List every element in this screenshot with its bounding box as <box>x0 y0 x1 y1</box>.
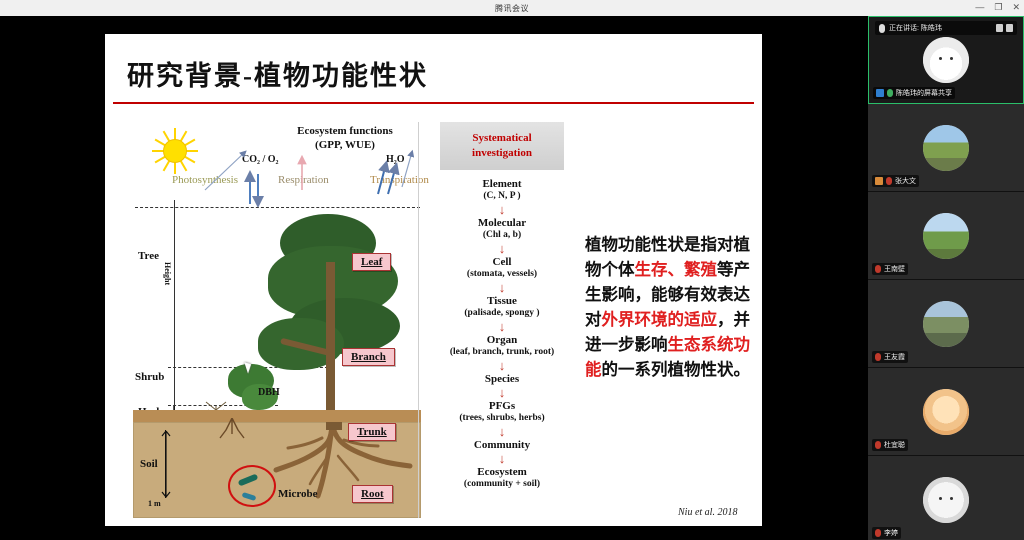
chain-arrow-icon: ↓ <box>430 424 574 439</box>
participant-name: 杜宜聪 <box>884 440 905 450</box>
chain-node-main: Element <box>430 178 574 190</box>
tag-trunk: Trunk <box>348 423 396 441</box>
window-title: 腾讯会议 <box>495 3 529 14</box>
flux-arrows <box>130 132 430 212</box>
chain-node-main: Organ <box>430 334 574 346</box>
participant-name: 王友霞 <box>884 352 905 362</box>
chain-node-main: Species <box>430 373 574 385</box>
avatar <box>923 125 969 171</box>
participant-name-bar: 张大文 <box>872 175 919 187</box>
chain-arrow-icon: ↓ <box>430 280 574 295</box>
pin-icon[interactable] <box>1006 24 1013 32</box>
definition-highlight: 生存、繁殖 <box>635 260 718 279</box>
chain-node-sub: (community + soil) <box>430 478 574 490</box>
avatar <box>923 37 969 83</box>
soil-layer-label: Soil <box>140 458 158 470</box>
participant-name: 李婷 <box>884 528 898 538</box>
window-title-bar: 腾讯会议 — ❐ ✕ <box>0 0 1024 16</box>
sys-line1: Systematical <box>472 132 531 144</box>
participant-name-bar: 李婷 <box>872 527 901 539</box>
participant-tile[interactable]: 王南壁 <box>868 192 1024 280</box>
mic-icon <box>887 89 893 97</box>
participant-tile[interactable]: 正在讲话: 陈皓玮陈皓玮的屏幕共享 <box>868 16 1024 104</box>
figure-divider <box>418 122 419 518</box>
chain-node: Cell(stomata, vessels) <box>430 256 574 280</box>
systematical-investigation-header: Systematical investigation <box>440 122 564 170</box>
microbe-label: Microbe <box>278 488 318 500</box>
microbe-highlight-circle <box>228 465 276 507</box>
presentation-slide: 研究背景-植物功能性状 Ecosystem functions (GPP, WU… <box>105 34 762 526</box>
avatar <box>923 301 969 347</box>
chain-node-sub: (trees, shrubs, herbs) <box>430 412 574 424</box>
participant-name-bar: 陈皓玮的屏幕共享 <box>873 87 955 99</box>
mic-off-icon <box>875 353 881 361</box>
chain-node-sub: (palisade, spongy ) <box>430 307 574 319</box>
chain-node-main: Molecular <box>430 217 574 229</box>
meeting-window: 腾讯会议 — ❐ ✕ 研究背景-植物功能性状 <box>0 0 1024 540</box>
close-icon[interactable]: ✕ <box>1012 1 1020 13</box>
chain-node: Organ(leaf, branch, trunk, root) <box>430 334 574 358</box>
volume-icon[interactable] <box>996 24 1003 32</box>
chain-node-sub: (leaf, branch, trunk, root) <box>430 346 574 358</box>
tag-leaf: Leaf <box>352 253 391 271</box>
share-icon <box>876 89 884 97</box>
mic-off-icon <box>875 265 881 273</box>
shrub-layer-label: Shrub <box>135 371 164 383</box>
hierarchy-chain: Element(C, N, P )↓Molecular(Chl a, b)↓Ce… <box>430 178 574 490</box>
chain-arrow-icon: ↓ <box>430 202 574 217</box>
chain-arrow-icon: ↓ <box>430 241 574 256</box>
participant-name: 张大文 <box>895 176 916 186</box>
definition-plain: 的一系列植物性状。 <box>602 360 751 379</box>
chain-node-main: Ecosystem <box>430 466 574 478</box>
dbh-label: DBH <box>258 387 280 398</box>
shared-screen-stage: 研究背景-植物功能性状 Ecosystem functions (GPP, WU… <box>0 16 868 540</box>
participant-tile[interactable]: 杜宜聪 <box>868 368 1024 456</box>
chain-node-sub: (Chl a, b) <box>430 229 574 241</box>
chain-node: Species <box>430 373 574 385</box>
mic-off-icon <box>875 529 881 537</box>
herb-root <box>208 418 258 446</box>
figure-container: Ecosystem functions (GPP, WUE) CO₂ / O₂ … <box>130 122 760 518</box>
chain-arrow-icon: ↓ <box>430 451 574 466</box>
chain-node-sub: (stomata, vessels) <box>430 268 574 280</box>
participant-name-bar: 杜宜聪 <box>872 439 908 451</box>
definition-text: 植物功能性状是指对植物个体生存、繁殖等产生影响，能够有效表达对外界环境的适应，并… <box>585 232 763 382</box>
canopy-guide-line <box>135 207 420 208</box>
chain-node-main: Community <box>430 439 574 451</box>
definition-highlight: 外界环境的适应 <box>602 310 718 329</box>
chain-node-main: Cell <box>430 256 574 268</box>
height-axis-label: Height <box>163 262 172 285</box>
participant-name-bar: 王友霞 <box>872 351 908 363</box>
participant-name: 陈皓玮的屏幕共享 <box>896 88 952 98</box>
page-title: 研究背景-植物功能性状 <box>127 54 428 93</box>
tree-layer-label: Tree <box>138 250 159 262</box>
chain-node: Molecular(Chl a, b) <box>430 217 574 241</box>
chain-arrow-icon: ↓ <box>430 358 574 373</box>
height-axis <box>174 200 175 416</box>
avatar <box>923 477 969 523</box>
tree-trunk <box>326 262 335 424</box>
mic-off-icon <box>886 177 892 185</box>
tag-branch: Branch <box>342 348 395 366</box>
maximize-icon[interactable]: ❐ <box>994 1 1002 13</box>
avatar <box>923 213 969 259</box>
mic-icon <box>879 24 885 33</box>
speaking-indicator-bar: 正在讲话: 陈皓玮 <box>875 21 1017 35</box>
minimize-icon[interactable]: — <box>975 1 984 13</box>
title-underline <box>113 102 754 104</box>
chain-node: Element(C, N, P ) <box>430 178 574 202</box>
soil-depth-arrows <box>159 427 173 503</box>
chain-node-main: Tissue <box>430 295 574 307</box>
participant-name: 王南壁 <box>884 264 905 274</box>
soil-depth-label: 1 m <box>148 499 161 508</box>
participant-sidebar[interactable]: 正在讲话: 陈皓玮陈皓玮的屏幕共享张大文王南壁王友霞杜宜聪李婷 <box>868 16 1024 540</box>
sys-line2: investigation <box>472 147 532 159</box>
chain-node-main: PFGs <box>430 400 574 412</box>
citation-label: Niu et al. 2018 <box>678 507 737 518</box>
chain-arrow-icon: ↓ <box>430 319 574 334</box>
chain-node-sub: (C, N, P ) <box>430 190 574 202</box>
chain-node: Community <box>430 439 574 451</box>
avatar <box>923 389 969 435</box>
avatar-icon <box>875 177 883 185</box>
chain-node: Ecosystem(community + soil) <box>430 466 574 490</box>
participant-name-bar: 王南壁 <box>872 263 908 275</box>
participant-tile[interactable]: 张大文 <box>868 104 1024 192</box>
participant-tile[interactable]: 李婷 <box>868 456 1024 540</box>
window-controls: — ❐ ✕ <box>975 1 1020 13</box>
participant-tile[interactable]: 王友霞 <box>868 280 1024 368</box>
speaking-label: 正在讲话: 陈皓玮 <box>889 23 942 33</box>
chain-arrow-icon: ↓ <box>430 385 574 400</box>
chain-node: PFGs(trees, shrubs, herbs) <box>430 400 574 424</box>
chain-node: Tissue(palisade, spongy ) <box>430 295 574 319</box>
tile-actions[interactable] <box>996 24 1013 32</box>
mic-off-icon <box>875 441 881 449</box>
tag-root: Root <box>352 485 393 503</box>
